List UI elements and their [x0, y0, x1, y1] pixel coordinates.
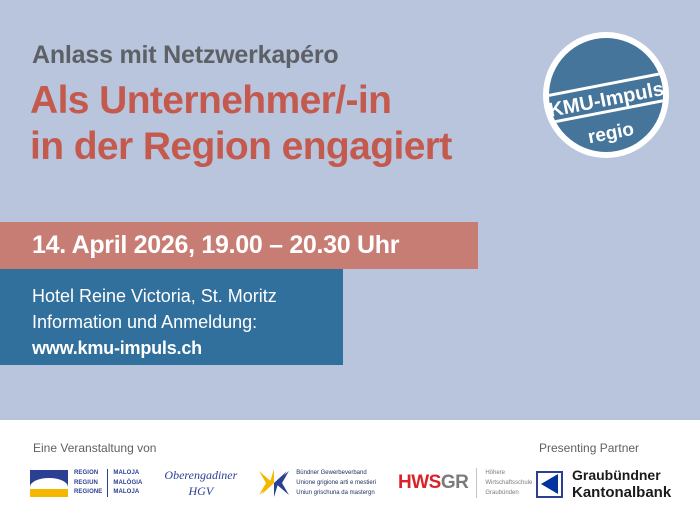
bgv-line-3: Uniun grischuna da mastergn — [296, 488, 376, 498]
hwsgr-subtitle: Höhere Wirtschaftsschule Graubünden — [476, 468, 532, 499]
hgv-line-2: HGV — [164, 483, 237, 499]
event-registration-text: Information und Anmeldung: — [32, 309, 343, 335]
event-website-link[interactable]: www.kmu-impuls.ch — [32, 335, 343, 361]
region-maloja-wordmark: REGION REGIUN REGIONE MALOJA MALÖGIA MAL… — [74, 469, 142, 497]
logo-oberengadiner-hgv: Oberengadiner HGV — [164, 467, 237, 499]
maloja-a-3: REGIONE — [74, 488, 102, 497]
organiser-label: Eine Veranstaltung von — [33, 441, 156, 455]
hgv-line-1: Oberengadiner — [164, 467, 237, 483]
partner-label: Presenting Partner — [539, 441, 639, 455]
hwsgr-word-b: GR — [441, 472, 469, 493]
event-info-block: Hotel Reine Victoria, St. Moritz Informa… — [0, 269, 343, 365]
logo-graubuendner-kantonalbank: Graubündner Kantonalbank — [536, 467, 671, 502]
gkb-line-1: Graubündner — [572, 467, 671, 484]
maloja-b-3: MALOJA — [113, 488, 142, 497]
event-date-time: 14. April 2026, 19.00 – 20.30 Uhr — [0, 231, 399, 260]
page-title: Als Unternehmer/-in in der Region engagi… — [30, 78, 452, 169]
maloja-b-2: MALÖGIA — [113, 479, 142, 488]
region-maloja-mark-icon — [30, 470, 68, 497]
hwsgr-wordmark: HWSGR — [398, 472, 468, 494]
logo-region-maloja: REGION REGIUN REGIONE MALOJA MALÖGIA MAL… — [30, 469, 142, 497]
gkb-line-2: Kantonalbank — [572, 484, 671, 502]
bgv-line-2: Unione grigione arti e mestieri — [296, 478, 376, 488]
partner-logo-row: Graubündner Kantonalbank — [536, 467, 671, 502]
maloja-b-1: MALOJA — [113, 469, 142, 478]
hwsgr-word-a: HWS — [398, 472, 441, 493]
bgv-line-1: Bündner Gewerbeverband — [296, 468, 376, 478]
gewerbeverband-wordmark: Bündner Gewerbeverband Unione grigione a… — [296, 468, 376, 499]
logo-hwsgr: HWSGR Höhere Wirtschaftsschule Graubünde… — [398, 468, 532, 499]
event-date-banner: 14. April 2026, 19.00 – 20.30 Uhr — [0, 222, 478, 269]
event-venue: Hotel Reine Victoria, St. Moritz — [32, 283, 343, 309]
hwsgr-sub-3: Graubünden — [485, 488, 532, 498]
hwsgr-sub-2: Wirtschaftsschule — [485, 478, 532, 488]
hwsgr-sub-1: Höhere — [485, 468, 532, 478]
maloja-a-2: REGIUN — [74, 479, 102, 488]
headline-line-1: Als Unternehmer/-in — [30, 78, 452, 124]
gkb-wordmark: Graubündner Kantonalbank — [572, 467, 671, 502]
logo-buendner-gewerbeverband: Bündner Gewerbeverband Unione grigione a… — [259, 468, 376, 499]
gewerbeverband-star-icon — [259, 469, 289, 497]
kmu-impuls-badge: KMU-Impuls regio — [540, 29, 672, 161]
maloja-a-1: REGION — [74, 469, 102, 478]
gkb-chevron-icon — [536, 471, 563, 498]
event-poster: Anlass mit Netzwerkapéro Als Unternehmer… — [0, 0, 700, 525]
poster-footer: Eine Veranstaltung von Presenting Partne… — [0, 420, 700, 525]
poster-kicker: Anlass mit Netzwerkapéro — [32, 41, 338, 70]
organiser-logo-row: REGION REGIUN REGIONE MALOJA MALÖGIA MAL… — [30, 467, 532, 499]
headline-line-2: in der Region engagiert — [30, 124, 452, 170]
